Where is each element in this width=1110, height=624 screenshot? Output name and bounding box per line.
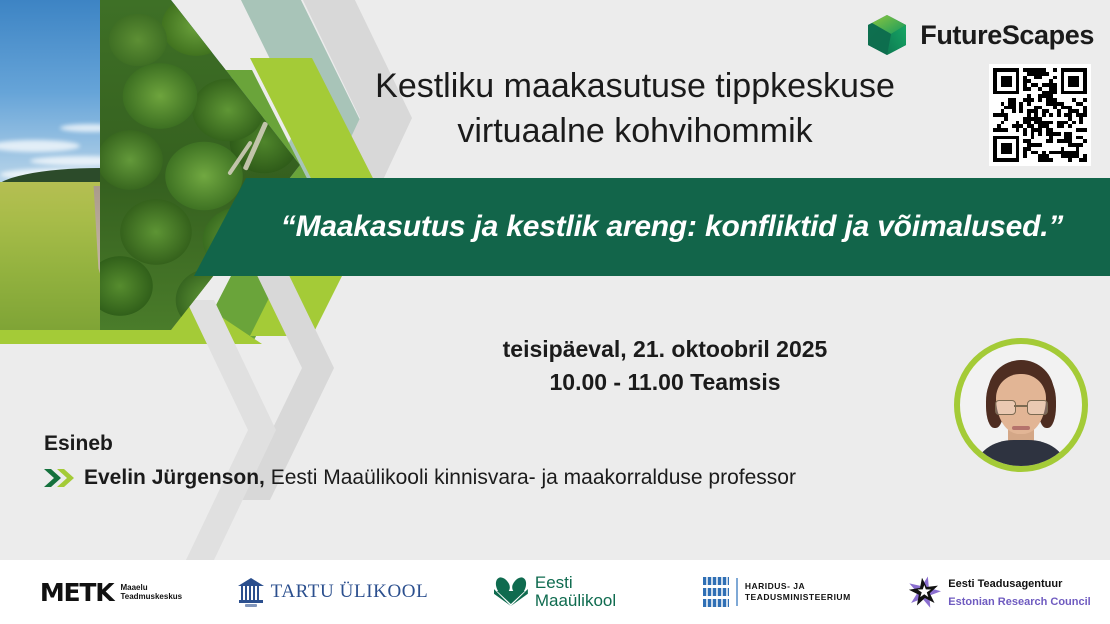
- shoulders: [976, 440, 1066, 472]
- speaker-portrait-icon: [954, 338, 1088, 472]
- metk-subtitle: Maaelu Teadmuskeskus: [120, 583, 182, 602]
- landscape-photo: [0, 0, 300, 330]
- research-council-wordmark: Eesti Teadusagentuur Estonian Research C…: [948, 574, 1090, 610]
- eesti-maaulikool-wordmark: Eesti Maaülikool: [535, 574, 616, 611]
- double-chevron-icon: [44, 467, 74, 489]
- speaker-name-and-role: Evelin Jürgenson, Eesti Maaülikooli kinn…: [84, 466, 796, 489]
- speaker-entry: Evelin Jürgenson, Eesti Maaülikooli kinn…: [44, 466, 796, 489]
- event-poster: FutureScapes Kestliku maakasutuse tippke…: [0, 0, 1110, 624]
- leaf-book-icon: [494, 577, 528, 607]
- title-line-2: virtuaalne kohvihommik: [300, 109, 970, 154]
- mouth: [1012, 426, 1030, 430]
- title-line-1: Kestliku maakasutuse tippkeskuse: [300, 64, 970, 109]
- speaker-section-label: Esineb: [44, 432, 113, 456]
- footer-logo-haridus-ja-teadusministeerium: HARIDUS- JA TEADUSMINISTEERIUM: [666, 560, 888, 624]
- event-meta: teisipäeval, 21. oktoobril 2025 10.00 - …: [380, 333, 950, 400]
- glasses-right-lens: [1027, 400, 1048, 415]
- footer-logo-eesti-teadusagentuur: Eesti Teadusagentuur Estonian Research C…: [888, 560, 1110, 624]
- qr-code-grid: [993, 68, 1087, 162]
- brand-name: FutureScapes: [920, 20, 1094, 51]
- page-title: Kestliku maakasutuse tippkeskuse virtuaa…: [300, 64, 970, 154]
- speaker-name: Evelin Jürgenson,: [84, 466, 265, 489]
- speaker-affiliation: Eesti Maaülikooli kinnisvara- ja maakorr…: [265, 466, 796, 489]
- ministry-wordmark: HARIDUS- JA TEADUSMINISTEERIUM: [745, 581, 851, 604]
- event-time: 10.00 - 11.00 Teamsis: [380, 366, 950, 399]
- footer-logo-tartu-ulikool: TARTU ÜLIKOOL: [222, 560, 444, 624]
- quote-text: “Maakasutus ja kestlik areng: konfliktid…: [194, 178, 1110, 276]
- quote-banner: “Maakasutus ja kestlik areng: konfliktid…: [194, 178, 1110, 276]
- glasses-bridge: [1014, 405, 1027, 407]
- grey-chevron-lower-2: [186, 300, 276, 560]
- etag-line-2: Estonian Research Council: [948, 596, 1090, 608]
- brand-logo: FutureScapes: [864, 12, 1094, 58]
- event-date: teisipäeval, 21. oktoobril 2025: [380, 333, 950, 366]
- divider: [736, 578, 738, 606]
- tree-canopy: [100, 0, 300, 330]
- temple-icon: [238, 577, 264, 607]
- star-burst-icon: [907, 576, 941, 608]
- footer-logo-bar: METK Maaelu Teadmuskeskus TARTU ÜLIKOOL …: [0, 560, 1110, 624]
- emu-line-2: Maaülikool: [535, 591, 616, 610]
- tartu-ulikool-wordmark: TARTU ÜLIKOOL: [271, 581, 429, 603]
- footer-logo-eesti-maaulikool: Eesti Maaülikool: [444, 560, 666, 624]
- metk-subtitle-line-1: Maaelu: [120, 583, 147, 592]
- metk-wordmark: METK: [40, 578, 114, 607]
- glasses-left-lens: [995, 400, 1016, 415]
- ministry-line-1: HARIDUS- JA: [745, 581, 805, 591]
- ministry-line-2: TEADUSMINISTEERIUM: [745, 592, 851, 602]
- futurescapes-cube-icon: [864, 12, 910, 58]
- etag-line-1: Eesti Teadusagentuur: [948, 578, 1062, 590]
- metk-subtitle-line-2: Teadmuskeskus: [120, 592, 182, 601]
- estonian-lions-icon: [703, 577, 729, 607]
- emu-line-1: Eesti: [535, 573, 573, 592]
- qr-code-icon[interactable]: [989, 64, 1091, 166]
- footer-logo-metk: METK Maaelu Teadmuskeskus: [0, 560, 222, 624]
